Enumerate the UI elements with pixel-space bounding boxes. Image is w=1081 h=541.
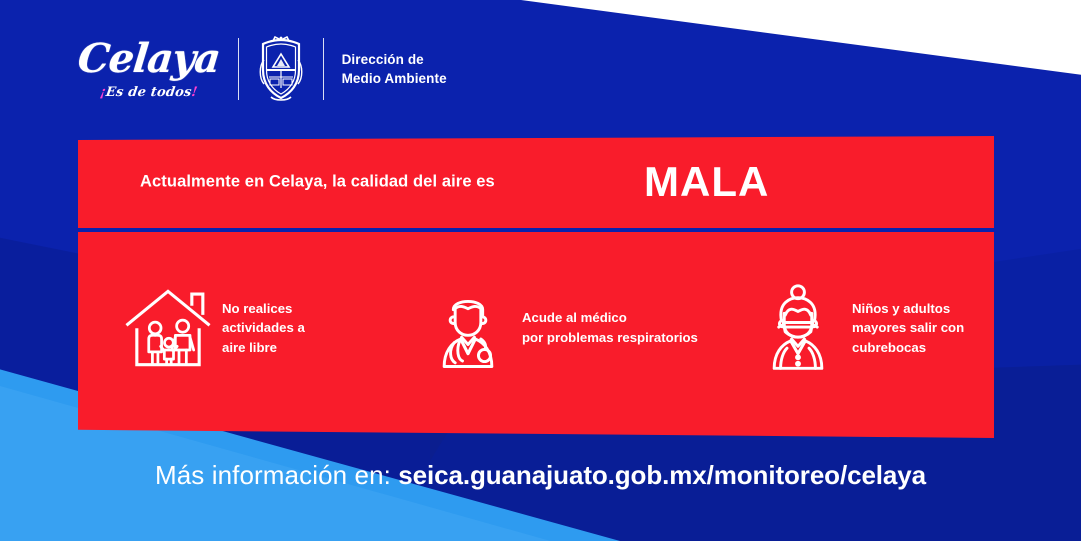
municipal-coat-of-arms-icon xyxy=(255,36,307,102)
status-value: MALA xyxy=(644,161,769,203)
recommendation-text: Niños y adultos mayores salir con cubreb… xyxy=(852,299,964,358)
department-name: Dirección de Medio Ambiente xyxy=(324,50,447,88)
recommendation-text: Acude al médico por problemas respirator… xyxy=(522,308,698,347)
brand-lockup: Celaya ¡Es de todos! xyxy=(78,36,447,102)
celaya-logo: Celaya ¡Es de todos! xyxy=(78,39,238,100)
recommendations-row: No realices actividades a aire libre xyxy=(78,232,994,438)
air-quality-status-panel: Actualmente en Celaya, la calidad del ai… xyxy=(78,136,994,228)
elderly-woman-face-mask-icon xyxy=(754,281,842,375)
recommendation-text: No realices actividades a aire libre xyxy=(222,299,305,358)
more-info-url[interactable]: seica.guanajuato.gob.mx/monitoreo/celaya xyxy=(398,460,926,490)
celaya-tagline: ¡Es de todos! xyxy=(99,85,199,100)
doctor-stethoscope-icon xyxy=(424,281,512,375)
brand-divider-left xyxy=(238,38,239,100)
status-label: Actualmente en Celaya, la calidad del ai… xyxy=(140,173,495,192)
air-quality-banner: Celaya ¡Es de todos! xyxy=(0,0,1081,541)
house-family-icon xyxy=(124,281,212,375)
tagline-close-mark: ! xyxy=(191,85,199,100)
more-info-lead: Más información en: xyxy=(155,460,398,490)
celaya-wordmark: Celaya xyxy=(76,39,222,79)
recommendation-item: Acude al médico por problemas respirator… xyxy=(424,281,754,375)
tagline-text: Es de todos xyxy=(105,85,193,100)
more-info-footer: Más información en: seica.guanajuato.gob… xyxy=(0,462,1081,488)
recommendation-item: No realices actividades a aire libre xyxy=(124,281,424,375)
recommendations-panel: No realices actividades a aire libre xyxy=(78,232,994,438)
